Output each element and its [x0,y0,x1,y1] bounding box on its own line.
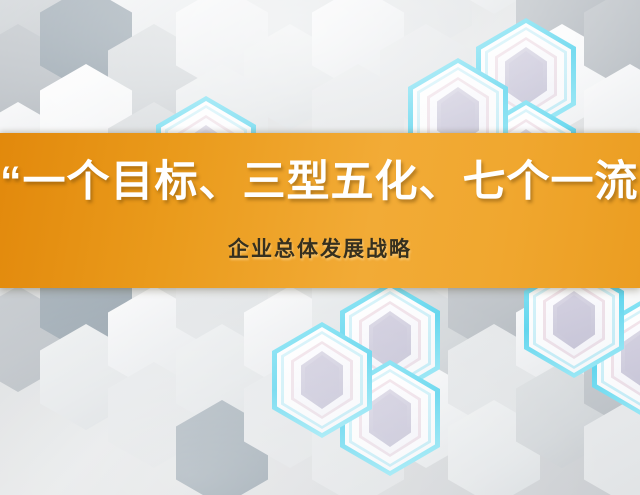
glowing-hexagon-tile [272,322,372,438]
slide-subtitle: 企业总体发展战略 [0,233,640,263]
title-band: “一个目标、三型五化、七个一流” 企业总体发展战略 [0,133,640,288]
slide-title: “一个目标、三型五化、七个一流” [0,160,640,205]
title-slide: “一个目标、三型五化、七个一流” 企业总体发展战略 [0,0,640,495]
